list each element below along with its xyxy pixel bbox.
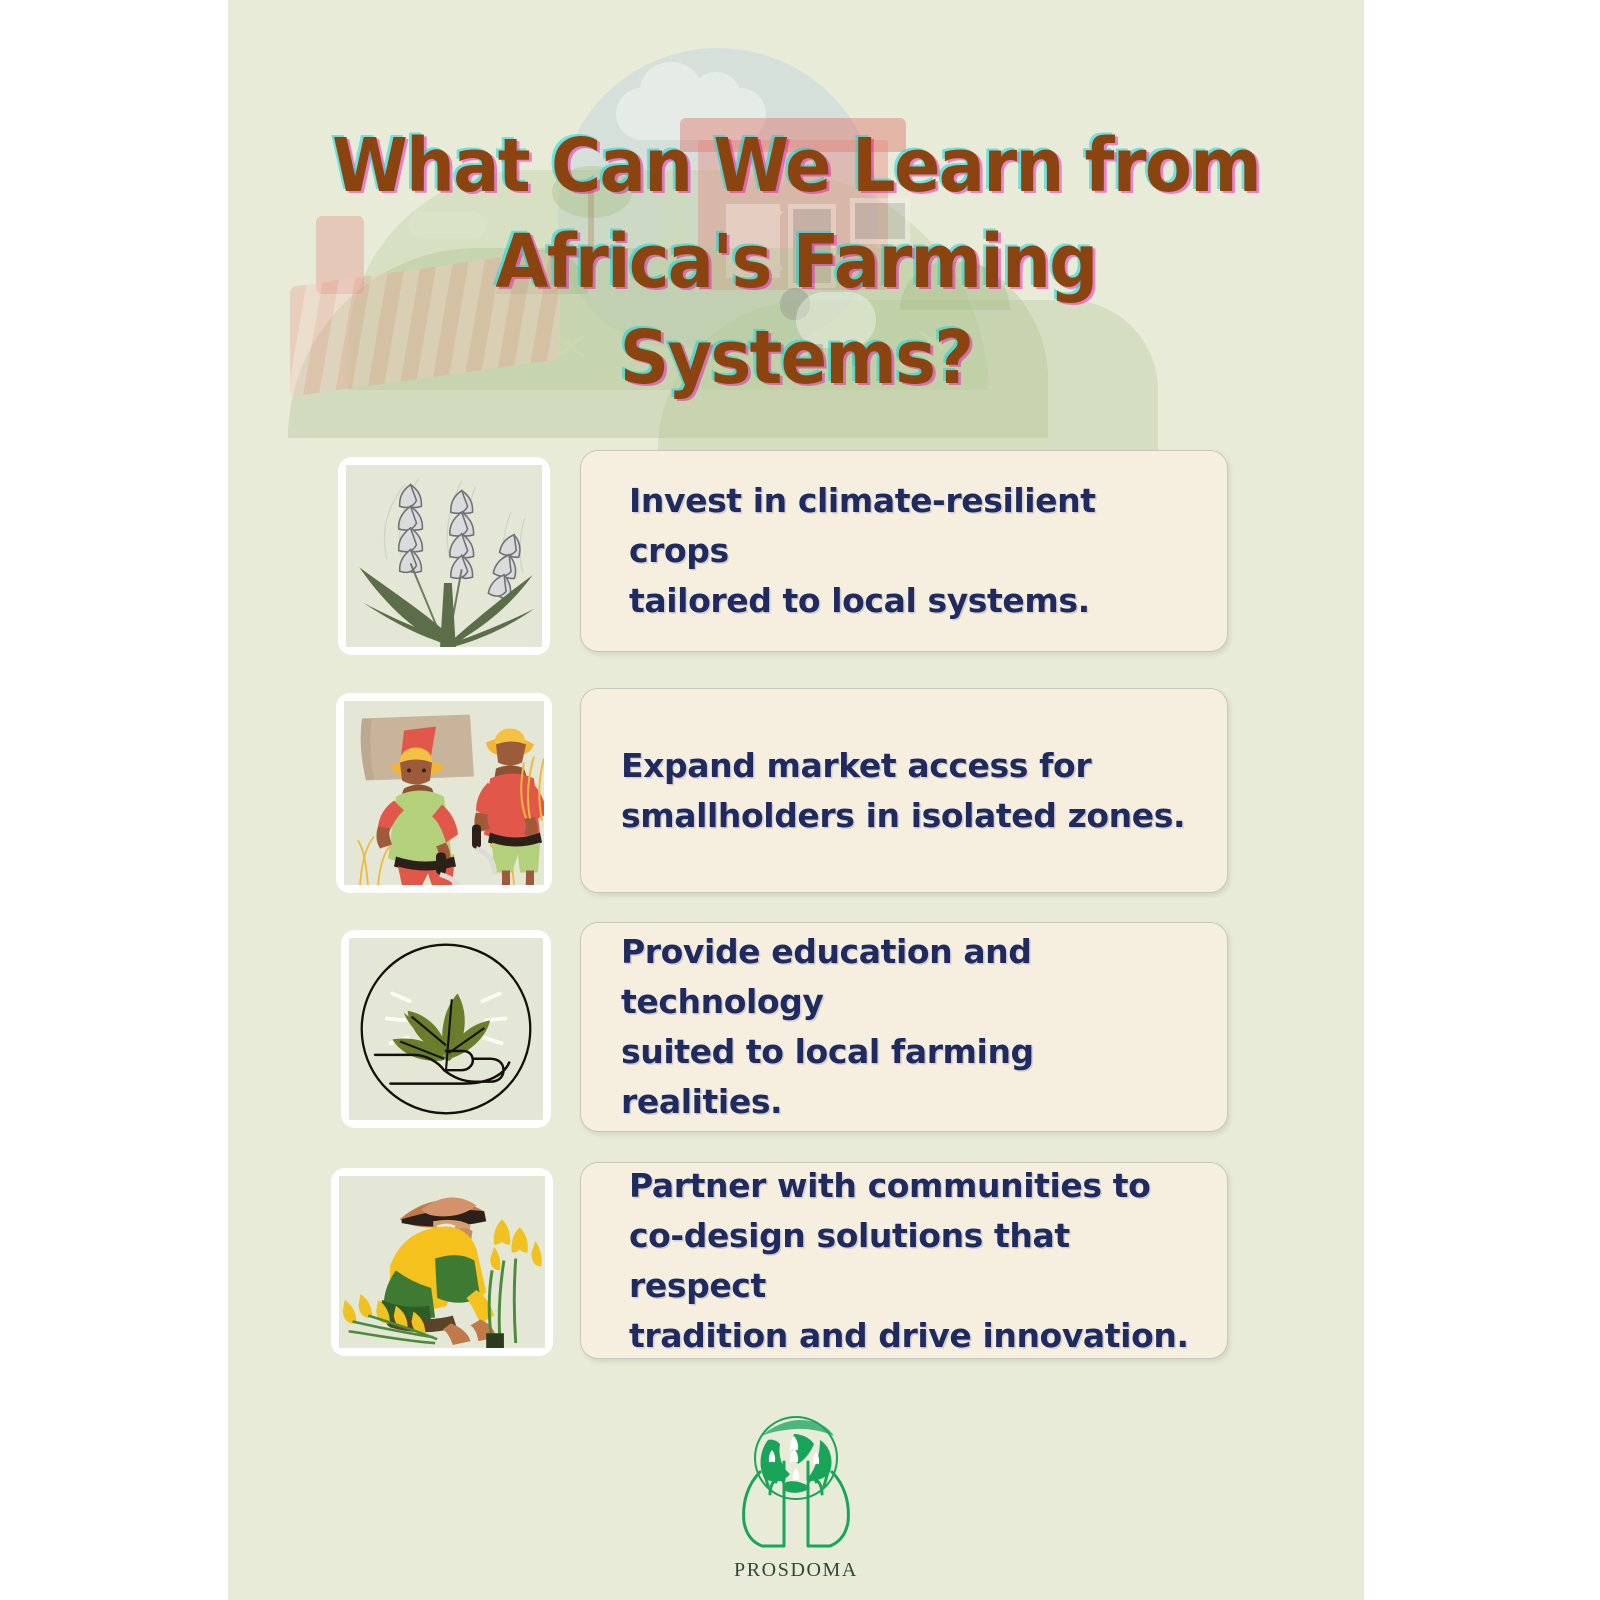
list-item: Expand market access for smallholders in… (228, 685, 1364, 895)
recommendation-card: Provide education and technology suited … (580, 922, 1228, 1132)
recommendation-text: Expand market access for smallholders in… (621, 741, 1185, 841)
recommendation-card: Expand market access for smallholders in… (580, 688, 1228, 893)
poster-canvas: What Can We Learn from Africa's Farming … (228, 0, 1364, 1600)
list-item: Partner with communities to co-design so… (228, 1160, 1364, 1355)
hand-holding-sprout-icon (341, 930, 551, 1128)
wheat-stalks-icon (338, 457, 550, 655)
organization-logo: PROSDOMA (698, 1410, 894, 1582)
logo-wordmark: PROSDOMA (698, 1559, 894, 1582)
two-farmers-icon (336, 693, 552, 893)
page-title: What Can We Learn from Africa's Farming … (314, 118, 1277, 406)
recommendation-card: Invest in climate-resilient crops tailor… (580, 450, 1228, 652)
list-item: Provide education and technology suited … (228, 920, 1364, 1130)
list-item: Invest in climate-resilient crops tailor… (228, 445, 1364, 655)
recommendation-text: Provide education and technology suited … (621, 927, 1197, 1127)
globe-in-hands-icon (698, 1410, 894, 1560)
recommendation-text: Partner with communities to co-design so… (621, 1161, 1197, 1361)
recommendation-card: Partner with communities to co-design so… (580, 1162, 1228, 1359)
recommendation-text: Invest in climate-resilient crops tailor… (621, 476, 1197, 626)
farmer-harvesting-rice-icon (331, 1168, 553, 1356)
hero-section: What Can We Learn from Africa's Farming … (228, 0, 1364, 430)
